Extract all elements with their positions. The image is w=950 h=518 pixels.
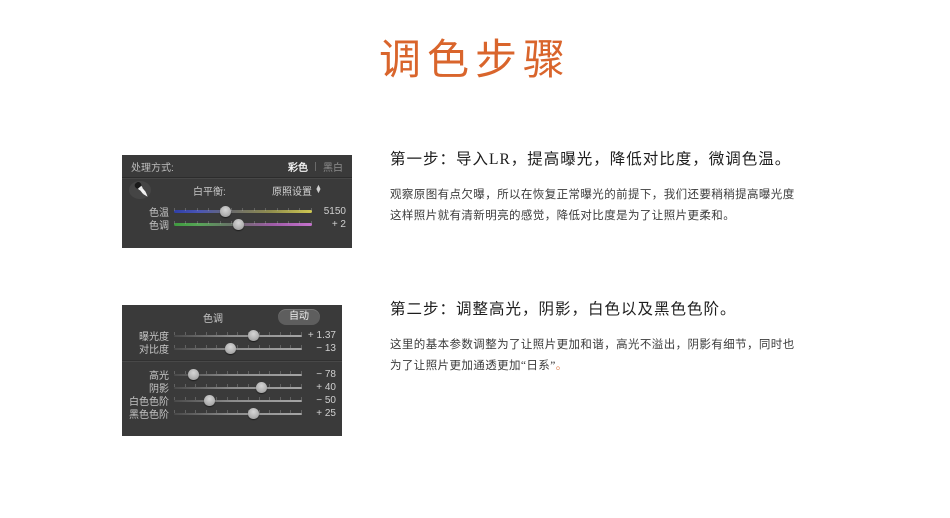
slider-value[interactable]: + 40 (302, 382, 342, 393)
white-balance-label: 白平衡: (193, 183, 226, 198)
slider-knob[interactable] (225, 343, 236, 354)
tone-panel-title: 色调 (203, 310, 223, 325)
step-2-heading: 第二步：调整高光，阴影，白色以及黑色色阶。 (390, 297, 795, 319)
slider-row[interactable]: 色调 + 2 (122, 218, 352, 231)
chevron-updown-icon: ▲ ▼ (315, 186, 322, 194)
slider-track-area[interactable] (174, 394, 302, 407)
slider-track (174, 387, 302, 389)
eyedropper-icon[interactable] (128, 180, 154, 202)
slider-track (174, 400, 302, 402)
slider-value[interactable]: − 78 (302, 369, 342, 380)
page-title: 调色步骤 (0, 26, 950, 87)
tone-panel: 色调 自动 曝光度 + 1.37 对比度 − 13 高光 (122, 305, 342, 436)
step-2-block: 第二步：调整高光，阴影，白色以及黑色色阶。 这里的基本参数调整为了让照片更加和谐… (390, 297, 795, 377)
white-balance-panel: 处理方式: 彩色 黑白 白平衡: 原照设置 ▲ ▼ (122, 155, 352, 248)
slider-track (174, 348, 302, 350)
treatment-label: 处理方式: (131, 159, 174, 174)
treatment-row: 处理方式: 彩色 黑白 (122, 155, 352, 178)
step-2-body-line-2-text: 为了让照片更加通透更加“日系” (390, 360, 556, 372)
step-1-body-line-2-text: 这样照片就有清新明亮的感觉，降低对比度是为了让照片更柔和。 (390, 210, 735, 222)
slider-track-area[interactable] (174, 329, 302, 342)
tone-panel-header: 色调 自动 (122, 305, 342, 329)
slider-knob[interactable] (248, 408, 259, 419)
tone-group-divider (122, 360, 342, 362)
step-2-body-line-1: 这里的基本参数调整为了让照片更加和谐，高光不溢出，阴影有细节，同时也 (390, 335, 795, 356)
step-1-body: 观察原图有点欠曝，所以在恢复正常曝光的前提下，我们还要稍稍提高曝光度 这样照片就… (390, 185, 795, 227)
slider-value[interactable]: + 2 (312, 219, 352, 230)
slider-value[interactable]: 5150 (312, 206, 352, 217)
slider-row[interactable]: 黑色色阶 + 25 (122, 407, 342, 420)
treatment-options: 彩色 黑白 (288, 159, 343, 174)
slider-knob[interactable] (204, 395, 215, 406)
slider-track-area[interactable] (174, 218, 312, 231)
step-2-body-line-2: 为了让照片更加通透更加“日系”。 (390, 356, 795, 377)
slider-knob[interactable] (233, 219, 244, 230)
slider-track (174, 335, 302, 337)
treatment-option-bw[interactable]: 黑白 (323, 159, 343, 174)
slider-knob[interactable] (248, 330, 259, 341)
chevron-down-icon: ▼ (315, 190, 322, 194)
slider-knob[interactable] (188, 369, 199, 380)
white-balance-row: 白平衡: 原照设置 ▲ ▼ (122, 178, 352, 203)
slider-knob[interactable] (256, 382, 267, 393)
slider-track-area[interactable] (174, 205, 312, 218)
step-1-heading: 第一步：导入LR，提高曝光，降低对比度，微调色温。 (390, 147, 795, 169)
step-2-body-accent: 。 (556, 360, 568, 372)
slider-value[interactable]: + 25 (302, 408, 342, 419)
auto-button[interactable]: 自动 (278, 309, 320, 325)
slider-label: 色调 (122, 217, 174, 232)
step-1-block: 第一步：导入LR，提高曝光，降低对比度，微调色温。 观察原图有点欠曝，所以在恢复… (390, 147, 795, 227)
slider-track-area[interactable] (174, 407, 302, 420)
slider-value[interactable]: − 13 (302, 343, 342, 354)
slider-track-area[interactable] (174, 342, 302, 355)
treatment-divider (315, 162, 316, 171)
slider-track-area[interactable] (174, 381, 302, 394)
step-1-body-line-1: 观察原图有点欠曝，所以在恢复正常曝光的前提下，我们还要稍稍提高曝光度 (390, 185, 795, 206)
white-balance-preset-select[interactable]: 原照设置 ▲ ▼ (272, 183, 322, 198)
white-balance-preset-value: 原照设置 (272, 183, 312, 198)
slider-knob[interactable] (220, 206, 231, 217)
slider-value[interactable]: − 50 (302, 395, 342, 406)
slider-row[interactable]: 对比度 − 13 (122, 342, 342, 355)
step-1-body-line-2: 这样照片就有清新明亮的感觉，降低对比度是为了让照片更柔和。 (390, 206, 795, 227)
step-2-body: 这里的基本参数调整为了让照片更加和谐，高光不溢出，阴影有细节，同时也 为了让照片… (390, 335, 795, 377)
slider-track (174, 210, 312, 213)
slider-value[interactable]: + 1.37 (302, 330, 342, 341)
slider-label: 对比度 (122, 341, 174, 356)
slider-label: 黑色色阶 (122, 406, 174, 421)
slider-track-area[interactable] (174, 368, 302, 381)
treatment-option-color[interactable]: 彩色 (288, 159, 308, 174)
slider-track (174, 413, 302, 415)
